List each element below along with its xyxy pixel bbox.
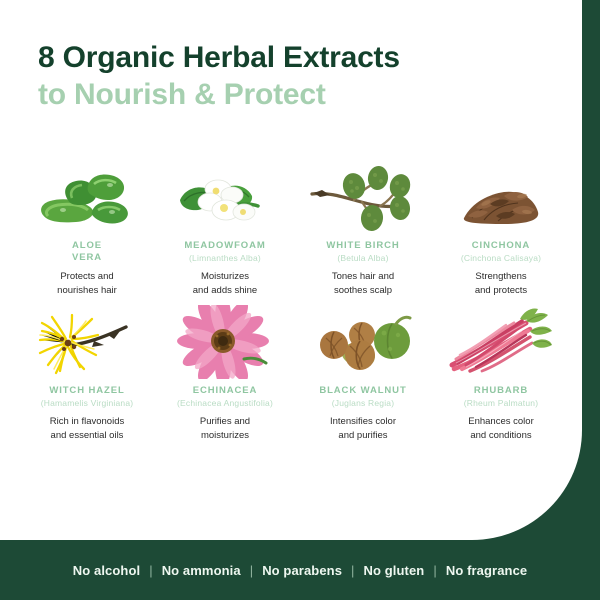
ingredient-latin-name: (Limnanthes Alba)	[189, 253, 261, 264]
ingredient-card-witch-hazel: WITCH HAZEL (Hamamelis Virginiana) Rich …	[18, 305, 156, 442]
ingredient-name: ECHINACEA	[193, 385, 258, 397]
ingredient-name: ALOE VERA	[72, 240, 102, 264]
ingredient-name-line2: VERA	[72, 252, 102, 263]
ingredient-card-cinchona: CINCHONA (Cinchona Calisaya) Strengthens…	[432, 160, 570, 297]
ingredient-desc-line2: soothes scalp	[334, 285, 392, 296]
ingredient-desc-line2: nourishes hair	[57, 285, 117, 296]
ingredient-description: Tones hair and soothes scalp	[332, 270, 394, 297]
ingredient-card-meadowfoam: MEADOWFOAM (Limnanthes Alba) Moisturizes…	[156, 160, 294, 297]
ingredient-description: Intensifies color and purifies	[330, 415, 396, 442]
ingredient-latin-name: (Juglans Regia)	[332, 398, 395, 409]
ingredient-description: Enhances color and conditions	[468, 415, 533, 442]
ingredient-name: WHITE BIRCH	[326, 240, 399, 252]
infographic-poster: 8 Organic Herbal Extracts to Nourish & P…	[0, 0, 600, 600]
cinchona-icon	[442, 160, 560, 234]
claim-no-alcohol: No alcohol	[64, 563, 149, 578]
meadowfoam-icon	[166, 160, 284, 234]
ingredient-latin-name: (Cinchona Calisaya)	[461, 253, 541, 264]
claim-no-parabens: No parabens	[253, 563, 351, 578]
ingredient-description: Rich in flavonoids and essential oils	[50, 415, 124, 442]
ingredient-name: CINCHONA	[472, 240, 530, 252]
ingredient-desc-line1: Enhances color	[468, 416, 533, 427]
claims-list: No alcohol | No ammonia | No parabens | …	[64, 563, 536, 578]
black-walnut-icon	[304, 305, 422, 379]
ingredient-desc-line1: Intensifies color	[330, 416, 396, 427]
ingredient-card-rhubarb: RHUBARB (Rheum Palmatun) Enhances color …	[432, 305, 570, 442]
ingredient-desc-line1: Tones hair and	[332, 271, 394, 282]
ingredient-description: Moisturizes and adds shine	[193, 270, 257, 297]
ingredient-card-black-walnut: BLACK WALNUT (Juglans Regia) Intensifies…	[294, 305, 432, 442]
ingredient-desc-line2: moisturizes	[201, 430, 249, 441]
ingredient-name: WITCH HAZEL	[49, 385, 124, 397]
ingredient-name-line1: ALOE	[72, 240, 102, 251]
ingredient-desc-line1: Protects and	[60, 271, 113, 282]
footer-claims-bar: No alcohol | No ammonia | No parabens | …	[0, 540, 600, 600]
white-birch-icon	[304, 160, 422, 234]
ingredient-latin-name: (Hamamelis Virginiana)	[41, 398, 134, 409]
ingredient-latin-name: (Echinacea Angustifolia)	[177, 398, 273, 409]
claim-no-ammonia: No ammonia	[153, 563, 250, 578]
ingredient-desc-line2: and protects	[475, 285, 527, 296]
ingredient-description: Purifies and moisturizes	[200, 415, 250, 442]
ingredient-desc-line1: Purifies and	[200, 416, 250, 427]
witch-hazel-icon	[28, 305, 146, 379]
echinacea-icon	[166, 305, 284, 379]
rhubarb-icon	[442, 305, 560, 379]
ingredient-name: RHUBARB	[474, 385, 528, 397]
content-sheet: 8 Organic Herbal Extracts to Nourish & P…	[0, 0, 582, 540]
aloe-vera-icon	[28, 160, 146, 234]
claim-no-fragrance: No fragrance	[437, 563, 536, 578]
ingredient-latin-name: (Betula Alba)	[337, 253, 388, 264]
ingredient-desc-line1: Rich in flavonoids	[50, 416, 124, 427]
ingredient-card-white-birch: WHITE BIRCH (Betula Alba) Tones hair and…	[294, 160, 432, 297]
ingredient-description: Strengthens and protects	[475, 270, 527, 297]
ingredient-card-aloe-vera: ALOE VERA Protects and nourishes hair	[18, 160, 156, 297]
ingredient-desc-line2: and purifies	[338, 430, 387, 441]
claim-no-gluten: No gluten	[355, 563, 434, 578]
ingredient-name: BLACK WALNUT	[319, 385, 406, 397]
page-title-line1: 8 Organic Herbal Extracts	[38, 40, 582, 75]
ingredient-desc-line2: and essential oils	[51, 430, 124, 441]
header: 8 Organic Herbal Extracts to Nourish & P…	[0, 0, 582, 113]
ingredient-name: MEADOWFOAM	[184, 240, 265, 252]
ingredient-desc-line2: and adds shine	[193, 285, 257, 296]
ingredient-desc-line1: Strengthens	[475, 271, 526, 282]
page-title-line2: to Nourish & Protect	[38, 77, 582, 112]
ingredient-desc-line1: Moisturizes	[201, 271, 249, 282]
ingredient-description: Protects and nourishes hair	[57, 270, 117, 297]
ingredient-card-echinacea: ECHINACEA (Echinacea Angustifolia) Purif…	[156, 305, 294, 442]
ingredient-grid: ALOE VERA Protects and nourishes hair	[18, 160, 570, 442]
ingredient-latin-name: (Rheum Palmatun)	[464, 398, 539, 409]
ingredient-desc-line2: and conditions	[470, 430, 531, 441]
